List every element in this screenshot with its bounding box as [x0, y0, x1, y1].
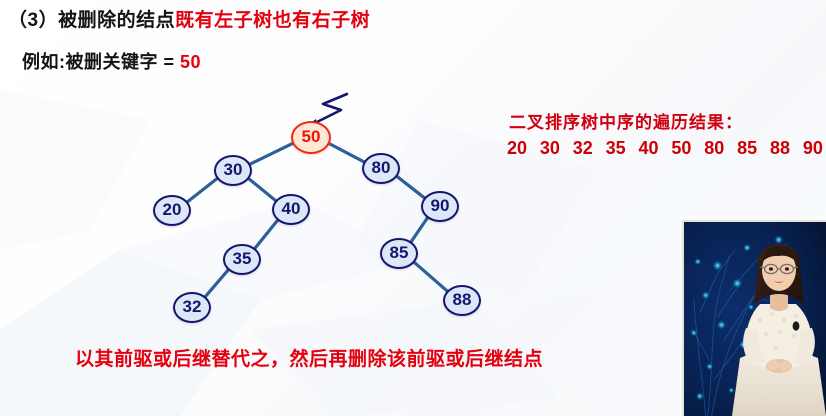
slide-caption: 以其前驱或后继替代之，然后再删除该前驱或后继结点 [75, 344, 543, 371]
slide-canvas: （3）被删除的结点既有左子树也有右子树 例如:被删关键字 = 50 二叉排序树中… [0, 0, 826, 416]
tree-node-90[interactable]: 90 [421, 191, 459, 222]
presenter-video[interactable] [682, 220, 826, 416]
tree-node-20[interactable]: 20 [153, 195, 191, 226]
tree-edge [414, 262, 447, 290]
tree-edge [206, 270, 229, 296]
tree-edge [255, 220, 277, 248]
tree-edge [397, 176, 424, 197]
tree-node-88[interactable]: 88 [443, 285, 481, 316]
tree-edge [249, 179, 275, 201]
tree-node-80[interactable]: 80 [362, 153, 400, 184]
tree-edge [188, 179, 217, 202]
tree-node-32[interactable]: 32 [173, 292, 211, 323]
tree-node-35[interactable]: 35 [223, 244, 261, 275]
tree-edge [250, 143, 292, 164]
presenter-figure [726, 238, 826, 416]
tree-node-40[interactable]: 40 [272, 194, 310, 225]
tree-edge [411, 218, 427, 242]
tree-node-50[interactable]: 50 [291, 121, 331, 154]
tree-node-85[interactable]: 85 [380, 238, 418, 269]
tree-edge [329, 144, 363, 162]
tree-node-30[interactable]: 30 [214, 155, 252, 186]
